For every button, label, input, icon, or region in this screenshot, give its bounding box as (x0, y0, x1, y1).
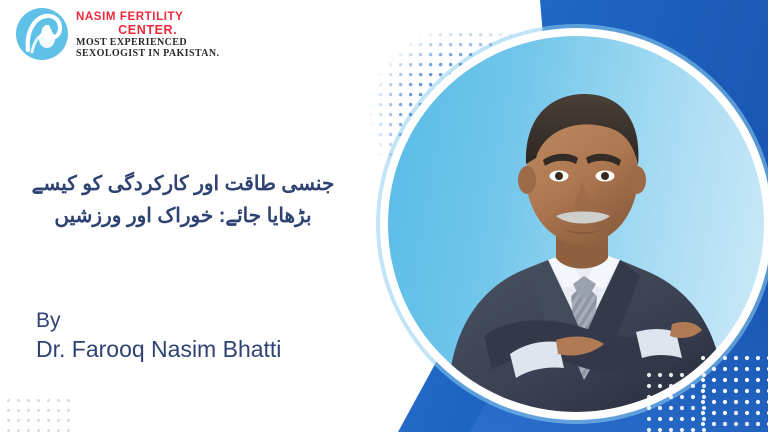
byline: By Dr. Farooq Nasim Bhatti (36, 308, 281, 364)
byline-prefix: By (36, 308, 281, 334)
grey-dot-grid (6, 398, 74, 432)
white-dot-grid-secondary (646, 372, 706, 432)
brand-logo[interactable]: NASIM FERTILITY CENTER. MOST EXPERIENCED… (14, 6, 219, 62)
logo-brand-line-2: CENTER. (76, 23, 219, 37)
slide-headline: جنسی طاقت اور کارکردگی کو کیسے بڑھایا جا… (18, 168, 348, 232)
logo-brand-line-1: NASIM FERTILITY (76, 11, 219, 23)
slide-canvas: NASIM FERTILITY CENTER. MOST EXPERIENCED… (0, 0, 768, 432)
byline-author-name: Dr. Farooq Nasim Bhatti (36, 334, 281, 364)
white-dot-grid (700, 355, 768, 432)
logo-tagline-line-1: MOST EXPERIENCED (76, 37, 219, 49)
logo-tagline-line-2: SEXOLOGIST IN PAKISTAN. (76, 48, 219, 60)
mother-and-child-circle-logo-icon (14, 6, 70, 62)
